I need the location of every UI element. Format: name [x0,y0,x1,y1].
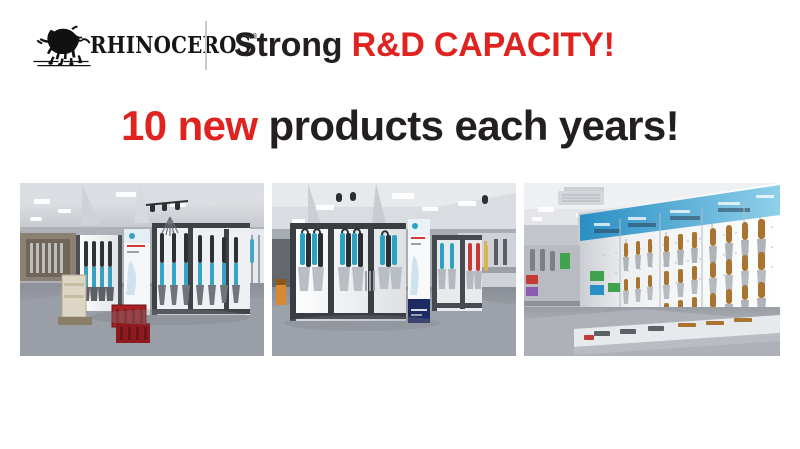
headline-secondary-accent: 10 new [121,102,257,149]
gallery-photo-2 [272,183,516,356]
slide-canvas: RHINOCEROS® Strong R&D CAPACITY! 10 new … [0,0,800,449]
showroom-hand-tool-pegboard-image [524,183,780,356]
rhinoceros-logo-icon [28,22,92,68]
brand-wordmark-text: RHINOCEROS [90,31,251,58]
brand-lockup: RHINOCEROS® [28,20,198,70]
showroom-shovel-spade-wall-image [272,183,516,356]
gallery-photo-3 [524,183,780,356]
headline-primary-plain: Strong [234,26,352,64]
headline-secondary: 10 new products each years! [121,101,679,151]
headline-secondary-plain: products each years! [257,102,679,149]
slide-header: RHINOCEROS® Strong R&D CAPACITY! [0,0,800,90]
photo-gallery [0,183,800,356]
showroom-tool-display-racks-image [20,183,264,356]
header-divider [205,21,207,70]
brand-wordmark: RHINOCEROS® [90,34,258,57]
headline-primary-accent: R&D CAPACITY! [352,26,615,64]
gallery-photo-1 [20,183,264,356]
headline-primary: Strong R&D CAPACITY! [234,25,615,65]
